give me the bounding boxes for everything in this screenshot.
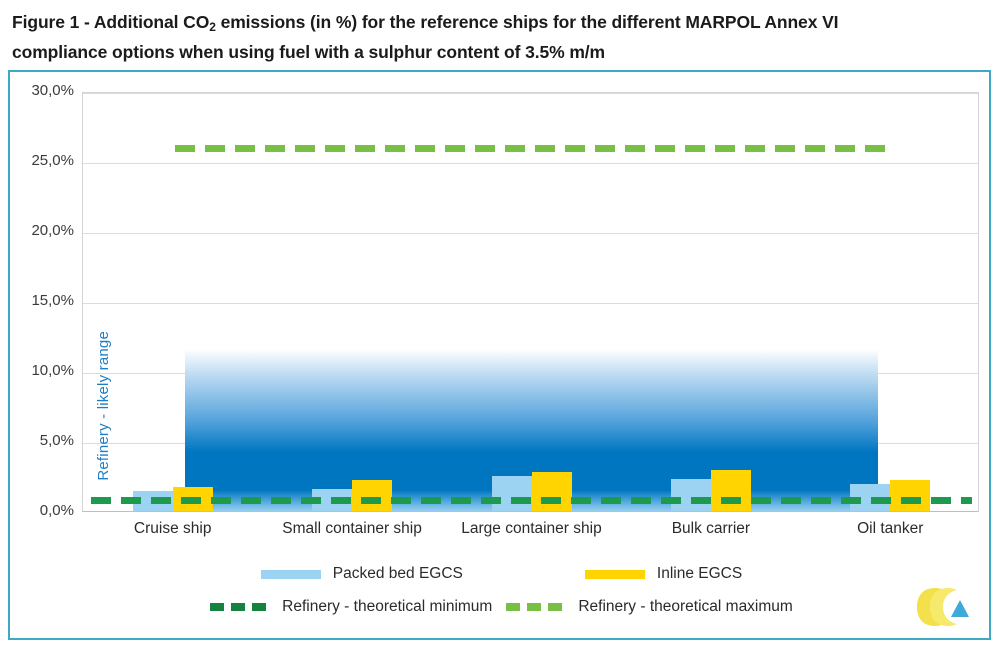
company-logo-icon — [915, 584, 971, 630]
refinery-theoretical-minimum-line — [91, 497, 972, 504]
legend-swatch-icon-refinery-maximum — [506, 603, 566, 611]
figure-frame: 0,0%5,0%10,0%15,0%20,0%25,0%30,0% Refine… — [8, 70, 991, 640]
legend-swatch-icon-packed-bed — [261, 570, 321, 579]
y-axis-tick-label: 5,0% — [10, 432, 74, 449]
plot-area: Refinery - likely range — [82, 92, 979, 512]
legend-item-refinery-maximum[interactable]: Refinery - theoretical maximum — [506, 598, 792, 616]
y-axis-tick-label: 25,0% — [10, 152, 74, 169]
y-axis-tick-label: 20,0% — [10, 222, 74, 239]
legend-item-refinery-minimum[interactable]: Refinery - theoretical minimum — [210, 598, 492, 616]
bar-inline-egcs — [890, 480, 930, 511]
legend-swatch-icon-refinery-minimum — [210, 603, 270, 611]
x-axis-category-labels: Cruise shipSmall container shipLarge con… — [83, 520, 979, 554]
gridline — [83, 303, 978, 304]
x-axis-label-large-container-ship: Large container ship — [442, 520, 621, 538]
legend-label-refinery-maximum: Refinery - theoretical maximum — [578, 598, 792, 616]
legend-label-refinery-minimum: Refinery - theoretical minimum — [282, 598, 492, 616]
y-axis-tick-label: 15,0% — [10, 292, 74, 309]
y-axis-tick-label: 30,0% — [10, 82, 74, 99]
bar-inline-egcs — [532, 472, 572, 511]
bar-packed-bed-egcs — [492, 476, 532, 511]
x-axis-label-oil-tanker: Oil tanker — [801, 520, 980, 538]
bar-packed-bed-egcs — [671, 479, 711, 511]
figure-page: Figure 1 - Additional CO2 emissions (in … — [0, 0, 1000, 650]
x-axis-label-cruise-ship: Cruise ship — [83, 520, 262, 538]
caption-subscript: 2 — [209, 20, 216, 34]
caption-line1-after: emissions (in %) for the reference ships… — [216, 12, 839, 32]
legend-item-inline-egcs[interactable]: Inline EGCS — [585, 565, 742, 583]
chart-legend: Packed bed EGCS Inline EGCS Refinery - t… — [10, 559, 993, 631]
caption-line2: compliance options when using fuel with … — [12, 38, 962, 66]
x-axis-label-small-container-ship: Small container ship — [262, 520, 441, 538]
legend-label-packed-bed: Packed bed EGCS — [333, 565, 463, 583]
legend-item-packed-bed-egcs[interactable]: Packed bed EGCS — [261, 565, 463, 583]
legend-swatch-icon-inline — [585, 570, 645, 579]
legend-label-inline: Inline EGCS — [657, 565, 742, 583]
caption-line1-before: Figure 1 - Additional CO — [12, 12, 209, 32]
bar-inline-egcs — [711, 470, 751, 511]
y-axis-tick-label: 0,0% — [10, 502, 74, 519]
plot-wrapper: 0,0%5,0%10,0%15,0%20,0%25,0%30,0% Refine… — [10, 72, 993, 532]
gridline — [83, 163, 978, 164]
legend-row-2: Refinery - theoretical minimum Refinery … — [10, 592, 993, 622]
bar-inline-egcs — [352, 480, 392, 511]
refinery-likely-range-label: Refinery - likely range — [95, 331, 112, 481]
legend-row-1: Packed bed EGCS Inline EGCS — [10, 559, 993, 589]
figure-caption: Figure 1 - Additional CO2 emissions (in … — [12, 8, 962, 66]
x-axis-label-bulk-carrier: Bulk carrier — [621, 520, 800, 538]
y-axis-tick-label: 10,0% — [10, 362, 74, 379]
gridline — [83, 93, 978, 94]
refinery-theoretical-maximum-line — [175, 145, 889, 152]
gridline — [83, 233, 978, 234]
